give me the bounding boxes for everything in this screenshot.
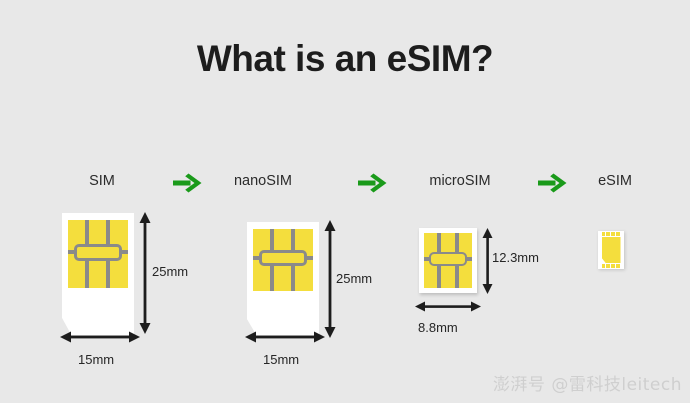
step-label-microsim: microSIM [405, 173, 515, 189]
sim-chip-standard [68, 220, 128, 288]
page-title: What is an eSIM? [0, 38, 690, 80]
dimension-arrow-height-sim [138, 212, 152, 334]
infographic-canvas: What is an eSIM? SIM nanoSIM microSIM eS… [0, 0, 690, 403]
step-label-esim: eSIM [565, 173, 665, 189]
sim-chip-micro [424, 233, 472, 288]
dimension-label-width-sim: 15mm [78, 352, 114, 367]
dimension-label-height-nanosim: 25mm [336, 271, 372, 286]
watermark: 澎湃号 @雷科技leitech [493, 370, 682, 395]
dimension-label-height-sim: 25mm [152, 264, 188, 279]
arrow-right-icon [172, 170, 204, 196]
arrow-right-icon [357, 170, 389, 196]
esim-chip [598, 231, 624, 269]
dimension-label-width-microsim: 8.8mm [418, 320, 458, 335]
dimension-label-height-microsim: 12.3mm [492, 250, 539, 265]
sim-chip-nano [253, 229, 313, 291]
dimension-label-width-nanosim: 15mm [263, 352, 299, 367]
step-label-nanosim: nanoSIM [208, 173, 318, 189]
dimension-arrow-height-nanosim [323, 220, 337, 338]
dimension-arrow-width-microsim [415, 300, 481, 313]
arrow-right-icon [537, 170, 569, 196]
dimension-arrow-width-sim [60, 330, 140, 344]
step-label-sim: SIM [52, 173, 152, 189]
dimension-arrow-width-nanosim [245, 330, 325, 344]
